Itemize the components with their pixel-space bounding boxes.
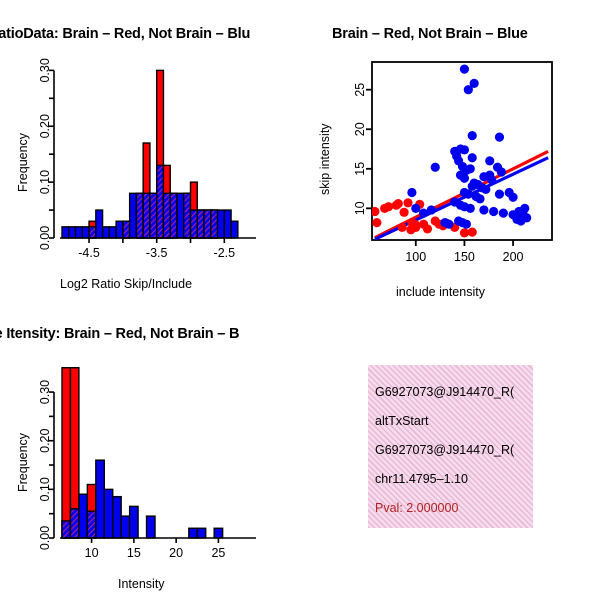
intensity-scatter-ylabel: skip intensity xyxy=(318,123,332,195)
svg-text:100: 100 xyxy=(405,250,426,264)
ratio-histogram-title: RatioData: Brain – Red, Not Brain – Blu xyxy=(0,26,250,42)
panel-annotation: G6927073@J914470_R(altTxStartG6927073@J9… xyxy=(300,300,600,600)
annotation-line-4: chr11.4795–1.10 xyxy=(375,472,468,486)
svg-text:0.30: 0.30 xyxy=(38,380,52,404)
intensity-scatter-plot: 10015020010152025 xyxy=(300,0,600,300)
panel-ratio-histogram: RatioData: Brain – Red, Not Brain – Blu … xyxy=(0,0,300,300)
intensity-scatter-xlabel: include intensity xyxy=(396,285,485,299)
svg-text:-3.5: -3.5 xyxy=(146,246,168,260)
plot-canvas: RatioData: Brain – Red, Not Brain – Blu … xyxy=(0,0,600,600)
svg-text:25: 25 xyxy=(211,546,225,560)
svg-text:0.10: 0.10 xyxy=(38,170,52,194)
svg-text:0.00: 0.00 xyxy=(38,526,52,550)
gene-intensity-ylabel: Frequency xyxy=(16,433,30,492)
svg-text:0.30: 0.30 xyxy=(38,58,52,82)
svg-text:0.20: 0.20 xyxy=(38,428,52,452)
annotation-line-2: altTxStart xyxy=(375,414,429,428)
svg-text:150: 150 xyxy=(454,250,475,264)
svg-text:-2.5: -2.5 xyxy=(214,246,236,260)
svg-text:10: 10 xyxy=(85,546,99,560)
svg-text:25: 25 xyxy=(353,83,367,97)
gene-intensity-xlabel: Intensity xyxy=(118,577,165,591)
svg-text:200: 200 xyxy=(503,250,524,264)
annotation-line-5: Pval: 2.000000 xyxy=(375,501,458,515)
svg-text:0.00: 0.00 xyxy=(38,226,52,250)
ratio-histogram-ylabel: Frequency xyxy=(16,133,30,192)
panel-intensity-scatter: Brain – Red, Not Brain – Blue skip inten… xyxy=(300,0,600,300)
annotation-line-3: G6927073@J914470_R( xyxy=(375,443,514,457)
intensity-scatter-title: Brain – Red, Not Brain – Blue xyxy=(332,26,528,42)
svg-text:0.10: 0.10 xyxy=(38,477,52,501)
annotation-line-1: G6927073@J914470_R( xyxy=(375,385,514,399)
svg-text:20: 20 xyxy=(169,546,183,560)
svg-text:15: 15 xyxy=(353,162,367,176)
panel-gene-intensity-histogram: ne Itensity: Brain – Red, Not Brain – B … xyxy=(0,300,300,600)
svg-text:-4.5: -4.5 xyxy=(78,246,100,260)
ratio-histogram-plot: -4.5-3.5-2.50.000.100.200.30 xyxy=(0,0,300,300)
svg-text:15: 15 xyxy=(127,546,141,560)
gene-intensity-plot: 101520250.000.100.200.30 xyxy=(0,300,300,600)
svg-text:20: 20 xyxy=(353,122,367,136)
ratio-histogram-xlabel: Log2 Ratio Skip/Include xyxy=(60,277,192,291)
annotation-box: G6927073@J914470_R(altTxStartG6927073@J9… xyxy=(368,365,533,528)
svg-text:0.20: 0.20 xyxy=(38,114,52,138)
gene-intensity-title: ne Itensity: Brain – Red, Not Brain – B xyxy=(0,326,239,342)
svg-text:10: 10 xyxy=(353,201,367,215)
